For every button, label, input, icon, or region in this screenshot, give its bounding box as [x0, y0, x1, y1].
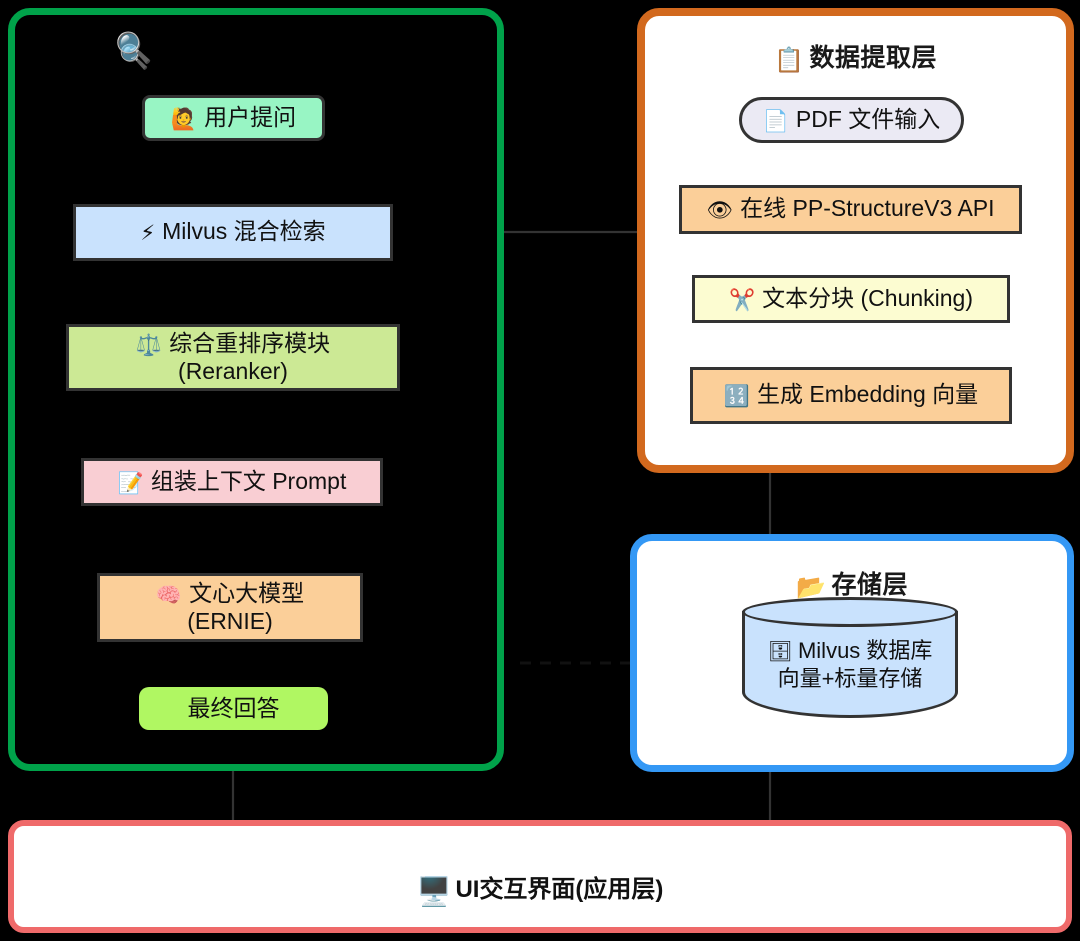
- storage-layer-title-text: 存储层: [831, 571, 908, 599]
- desktop-computer-icon: 🖥️: [417, 876, 452, 907]
- ui-layer-label-text: UI交互界面(应用层): [455, 876, 663, 903]
- memo-icon: 📝: [118, 472, 144, 495]
- node-final-answer[interactable]: 最终回答: [139, 687, 328, 730]
- node-pdf-input-label: PDF 文件输入: [796, 106, 940, 132]
- node-user-question-label: 用户提问: [204, 104, 296, 130]
- node-assemble-prompt-label: 组装上下文 Prompt: [151, 468, 347, 494]
- node-milvus-database-line2: 向量+标量存储: [778, 666, 923, 691]
- node-user-question[interactable]: 🙋用户提问: [142, 95, 325, 141]
- document-icon: 📄: [763, 110, 789, 133]
- node-reranker[interactable]: ⚖️综合重排序模块 (Reranker): [66, 324, 400, 391]
- node-milvus-hybrid-search[interactable]: ⚡Milvus 混合检索: [73, 204, 393, 261]
- node-milvus-database-line1: Milvus 数据库: [798, 638, 932, 663]
- extract-layer-title-text: 数据提取层: [809, 44, 937, 72]
- clipboard-icon: 📋: [774, 47, 804, 74]
- node-generate-embedding[interactable]: 🔢生成 Embedding 向量: [690, 367, 1012, 424]
- node-assemble-prompt[interactable]: 📝组装上下文 Prompt: [81, 458, 383, 506]
- file-cabinet-icon: 🗄: [768, 641, 793, 663]
- node-milvus-hybrid-search-label: Milvus 混合检索: [162, 218, 326, 244]
- node-final-answer-label: 最终回答: [188, 695, 280, 722]
- extract-layer-title: 📋数据提取层: [645, 38, 1066, 75]
- node-text-chunking[interactable]: ✂️文本分块 (Chunking): [692, 275, 1010, 323]
- subgraph-ui-layer: 🖥️UI交互界面(应用层): [8, 820, 1072, 933]
- node-reranker-label: 综合重排序模块: [169, 330, 330, 356]
- input-numbers-icon: 🔢: [724, 385, 750, 408]
- lightning-icon: ⚡: [140, 222, 155, 245]
- query-layer-title: 🔍: [15, 41, 497, 72]
- eye-icon: 👁: [706, 199, 733, 222]
- brain-icon: 🧠: [156, 584, 182, 607]
- node-ernie-llm-sublabel: (ERNIE): [187, 608, 273, 634]
- diagram-canvas: 🔍 🔍 🙋用户提问 ⚡Milvus 混合检索 ⚖️综合重排序模块 (Rerank…: [0, 0, 1080, 941]
- balance-scale-icon: ⚖️: [136, 334, 162, 357]
- node-ernie-llm-label: 文心大模型: [189, 580, 304, 606]
- magnifier-icon: 🔍: [115, 34, 152, 64]
- node-milvus-database-label: 🗄Milvus 数据库 向量+标量存储: [742, 637, 958, 693]
- node-ppstructure-api-label: 在线 PP-StructureV3 API: [740, 195, 994, 221]
- node-ppstructure-api[interactable]: 👁在线 PP-StructureV3 API: [679, 185, 1022, 234]
- cylinder-top: [742, 597, 958, 627]
- ui-layer-label: 🖥️UI交互界面(应用层): [14, 869, 1066, 908]
- scissors-icon: ✂️: [729, 289, 755, 312]
- node-milvus-database[interactable]: 🗄Milvus 数据库 向量+标量存储: [742, 597, 958, 718]
- node-reranker-sublabel: (Reranker): [178, 358, 288, 384]
- person-raising-hand-icon: 🙋: [171, 108, 197, 131]
- node-text-chunking-label: 文本分块 (Chunking): [762, 285, 973, 311]
- node-ernie-llm[interactable]: 🧠文心大模型 (ERNIE): [97, 573, 363, 642]
- node-pdf-input[interactable]: 📄PDF 文件输入: [739, 97, 964, 143]
- node-generate-embedding-label: 生成 Embedding 向量: [757, 381, 978, 407]
